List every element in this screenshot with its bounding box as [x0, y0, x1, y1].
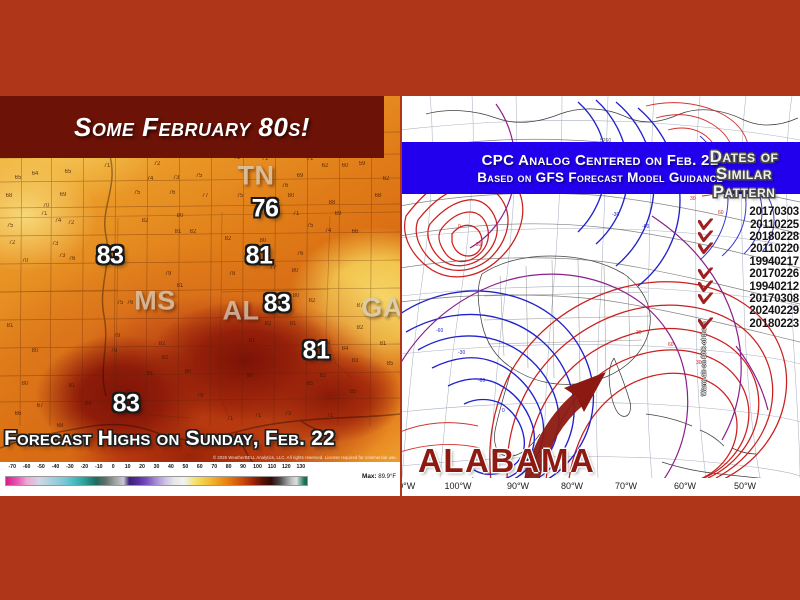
- scale-tick: 130: [296, 464, 305, 470]
- region-callout-alabama: ALABAMA: [418, 442, 595, 480]
- date-value: 20110225: [750, 219, 799, 231]
- state-label-al: AL: [223, 296, 260, 327]
- date-value: 20180223: [749, 318, 799, 330]
- check-icon: [698, 243, 713, 256]
- cpc-analog-map[interactable]: 0 -30 -60 -30 -60 0 -30 -60 30 60 30 60 …: [400, 96, 800, 496]
- svg-text:-60: -60: [642, 224, 649, 230]
- check-icon: [698, 317, 713, 330]
- date-row[interactable]: 20180223: [690, 318, 799, 330]
- check-icon: [698, 280, 713, 293]
- longitude-tick: 90°W: [507, 481, 529, 491]
- scale-tick: -50: [37, 464, 45, 470]
- temperature-callout: 83: [264, 290, 291, 319]
- map-caption: Forecast Highs on Sunday, Feb. 22: [4, 427, 335, 451]
- date-row[interactable]: 20180228: [690, 231, 799, 243]
- scale-tick: 90: [240, 464, 246, 470]
- max-units: °F: [390, 474, 396, 480]
- temperature-callout: 81: [246, 242, 273, 271]
- date-value: 20180228: [749, 231, 799, 243]
- svg-text:-60: -60: [436, 328, 443, 334]
- scale-tick: 10: [125, 464, 131, 470]
- svg-text:60: 60: [668, 342, 674, 348]
- date-row[interactable]: 19940217: [690, 256, 799, 268]
- scale-tick: -20: [81, 464, 89, 470]
- date-row[interactable]: 19940212: [690, 280, 799, 292]
- check-icon: [698, 230, 713, 243]
- scale-tick: 60: [197, 464, 203, 470]
- check-icon: [698, 268, 713, 281]
- banner-line-2: Based on GFS Forecast Model Guidance: [477, 170, 723, 185]
- scale-tick: 70: [211, 464, 217, 470]
- longitude-tick: 80°W: [561, 481, 583, 491]
- date-row[interactable]: 20170308: [690, 293, 799, 305]
- svg-text:-60: -60: [478, 378, 485, 384]
- state-label-tn: TN: [238, 161, 275, 192]
- check-icon: [698, 292, 713, 305]
- title-banner: Some February 80s!: [0, 96, 384, 158]
- color-scale-ticks: -70-60-50-40-30-20-100102030405060708090…: [5, 462, 308, 474]
- dates-list: 2017030320110225201802282011022019940217…: [690, 206, 800, 330]
- date-value: 19940217: [749, 256, 799, 268]
- longitude-tick: 110°W: [400, 481, 415, 491]
- state-label-ga: GA: [361, 293, 400, 324]
- svg-text:30: 30: [636, 330, 642, 336]
- max-temperature-label: Max: 89.9°F: [362, 473, 396, 480]
- check-icon: [698, 218, 713, 231]
- scale-tick: -70: [8, 464, 16, 470]
- scale-tick: -40: [52, 464, 60, 470]
- scale-tick: -10: [95, 464, 103, 470]
- date-value: 20110220: [750, 243, 799, 255]
- longitude-tick: 60°W: [674, 481, 696, 491]
- scale-tick: 0: [112, 464, 115, 470]
- longitude-tick: 50°W: [734, 481, 756, 491]
- svg-text:0: 0: [458, 224, 461, 230]
- scale-tick: -30: [66, 464, 74, 470]
- longitude-axis: 110°W100°W90°W80°W70°W60°W50°W40°W: [400, 478, 800, 496]
- max-prefix: Max:: [362, 473, 377, 480]
- longitude-tick: 100°W: [444, 481, 471, 491]
- date-value: 20170308: [749, 293, 799, 305]
- temperature-callout: 83: [113, 390, 140, 419]
- longitude-tick: 70°W: [615, 481, 637, 491]
- vertical-annotation: Warm air on 80% of them: [702, 322, 708, 396]
- forecast-temperature-map[interactable]: 6564686569707172757273737076746571727473…: [0, 96, 400, 496]
- date-row[interactable]: 20170226: [690, 268, 799, 280]
- date-value: 20170303: [749, 206, 799, 218]
- date-value: 20170226: [749, 268, 799, 280]
- scale-tick: 110: [268, 464, 276, 470]
- color-scale-bar: [5, 476, 308, 486]
- date-value: 20240229: [749, 305, 799, 317]
- scale-tick: 100: [253, 464, 262, 470]
- svg-text:0: 0: [502, 408, 505, 414]
- svg-text:-30: -30: [458, 350, 465, 356]
- date-row[interactable]: 20110225: [690, 218, 799, 230]
- panel-divider: [400, 96, 402, 496]
- color-scale: -70-60-50-40-30-20-100102030405060708090…: [0, 462, 400, 496]
- date-row[interactable]: 20110220: [690, 243, 799, 255]
- dates-heading-line: Similar: [690, 165, 798, 182]
- temperature-callout: 81: [303, 337, 330, 366]
- svg-text:-30: -30: [474, 242, 481, 248]
- state-label-ms: MS: [134, 286, 176, 317]
- date-value: 19940212: [749, 281, 799, 293]
- scale-tick: -60: [23, 464, 31, 470]
- graphic-title: Some February 80s!: [74, 112, 310, 143]
- svg-text:-30: -30: [612, 212, 619, 218]
- weather-graphic: 6564686569707172757273737076746571727473…: [0, 0, 800, 600]
- temperature-callout: 76: [252, 195, 279, 224]
- date-row[interactable]: 20240229: [690, 305, 799, 317]
- scale-tick: 80: [226, 464, 232, 470]
- dates-heading-line: Pattern: [690, 183, 798, 200]
- date-row[interactable]: 20170303: [690, 206, 799, 218]
- banner-line-1: CPC Analog Centered on Feb. 21: [482, 152, 719, 169]
- scale-tick: 50: [182, 464, 188, 470]
- dates-heading: Dates ofSimilarPattern: [690, 148, 800, 200]
- scale-tick: 30: [154, 464, 160, 470]
- dates-heading-line: Dates of: [690, 148, 798, 165]
- copyright-notice: © 2026 WeatherBELL Analytics, LLC. All r…: [213, 455, 397, 460]
- temperature-callout: 83: [97, 242, 124, 271]
- scale-tick: 20: [139, 464, 145, 470]
- scale-tick: 40: [168, 464, 174, 470]
- scale-tick: 120: [282, 464, 291, 470]
- max-value: 89.9: [378, 474, 390, 480]
- similar-dates-panel: Dates ofSimilarPattern 20170303201102252…: [690, 148, 800, 330]
